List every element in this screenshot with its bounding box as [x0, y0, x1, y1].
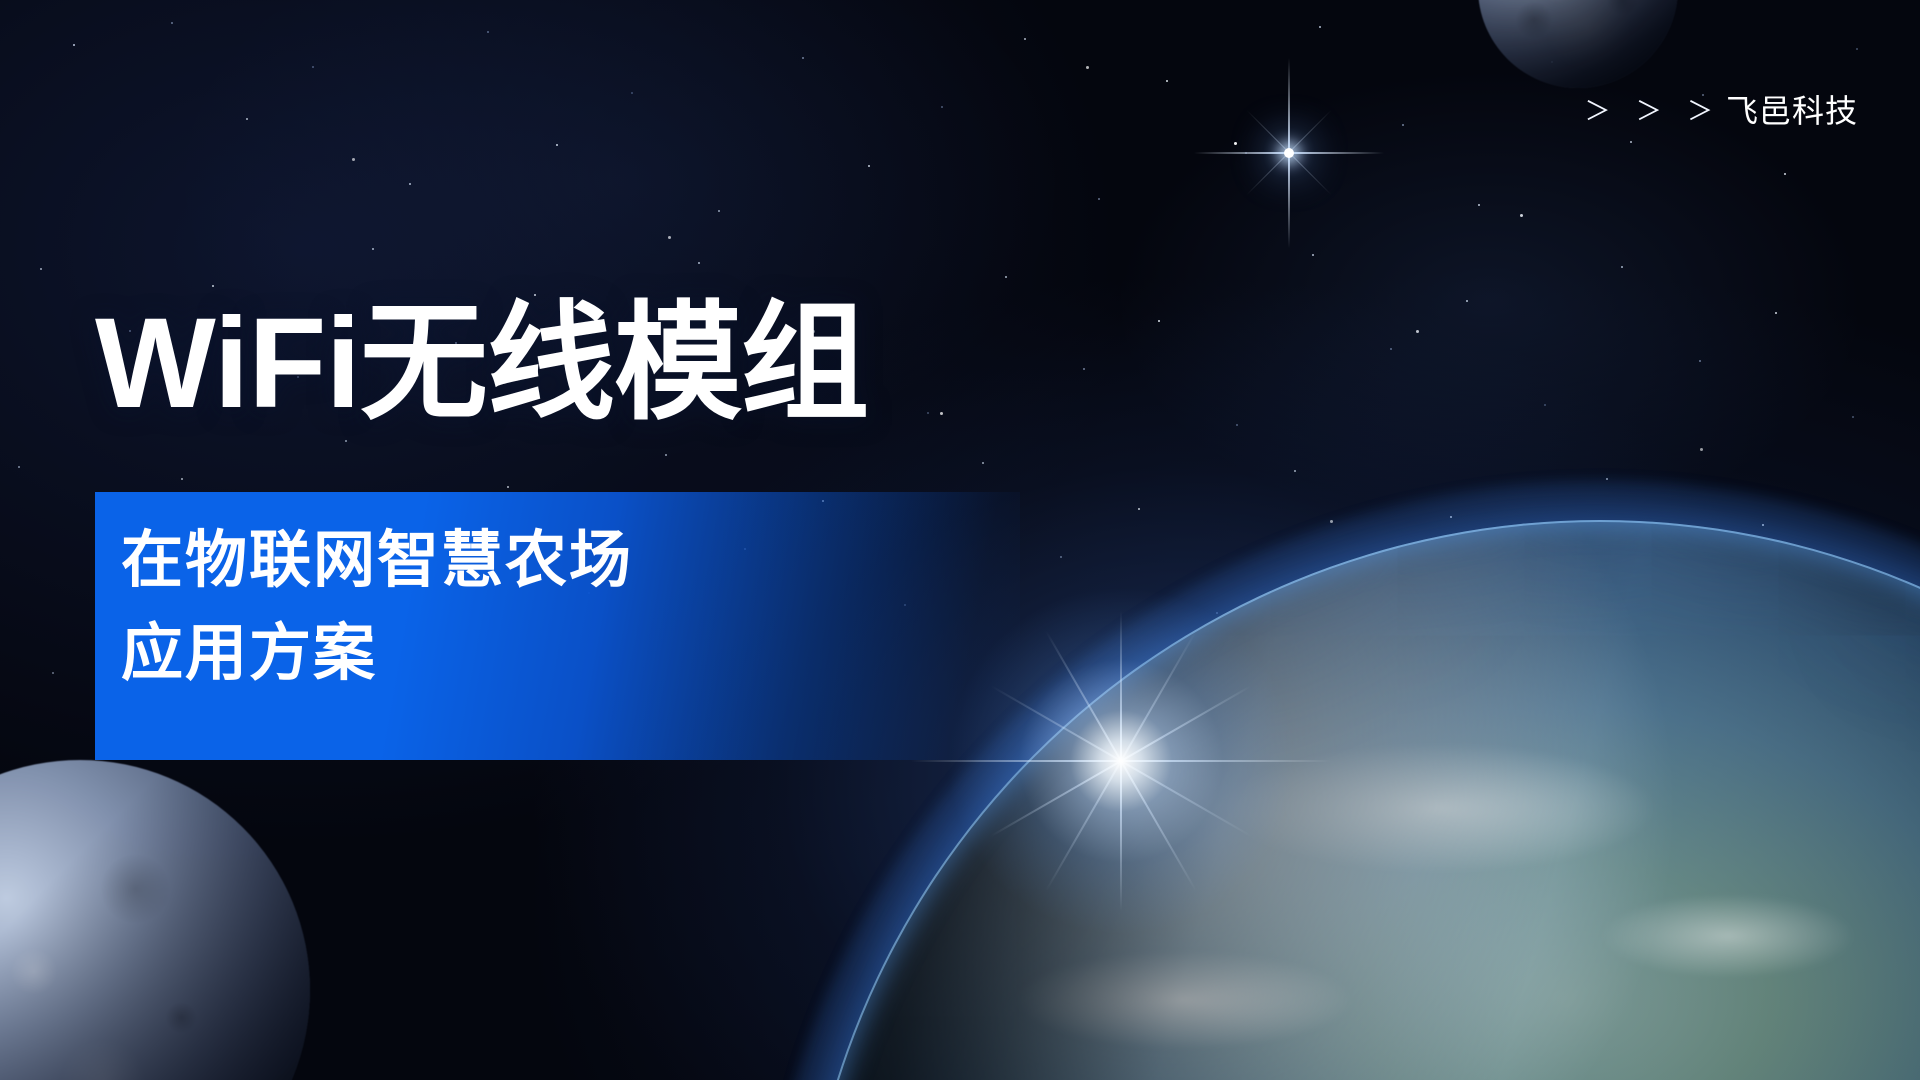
chevron-right-icons: ＞ ＞ ＞ — [1585, 91, 1722, 128]
poster-canvas: ＞ ＞ ＞ 飞邑科技 WiFi无线模组 在物联网智慧农场 应用方案 — [0, 0, 1920, 1080]
brand-tag: ＞ ＞ ＞ 飞邑科技 — [1585, 86, 1858, 132]
subtitle-text-group: 在物联网智慧农场 应用方案 — [95, 492, 1020, 760]
subtitle-line-2: 应用方案 — [121, 621, 1020, 688]
starfield-layer-c — [0, 0, 3, 3]
page-title: WiFi无线模组 — [95, 300, 868, 428]
headline-block: WiFi无线模组 — [95, 300, 868, 428]
brand-name: 飞邑科技 — [1726, 86, 1858, 132]
subtitle-line-1: 在物联网智慧农场 — [121, 528, 1020, 595]
